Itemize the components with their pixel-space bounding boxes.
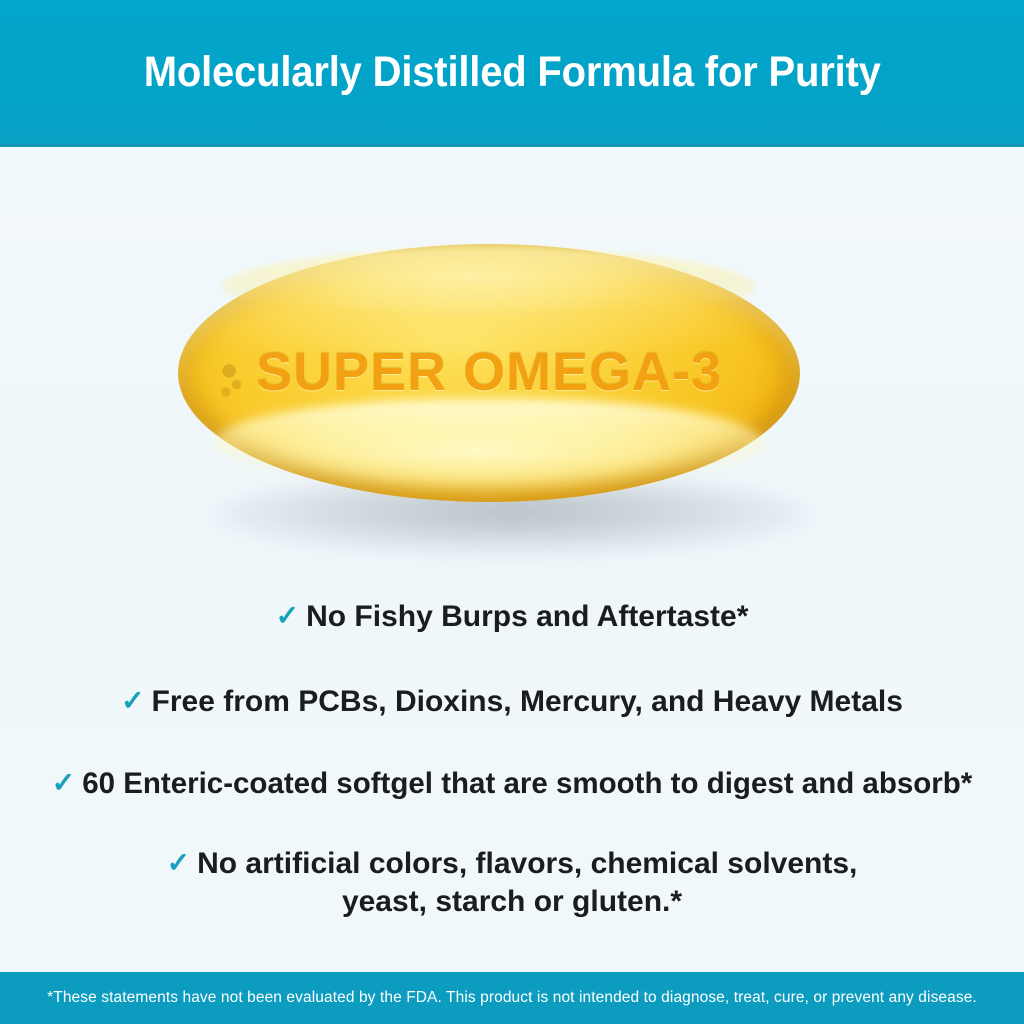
- list-item: ✓60 Enteric-coated softgel that are smoo…: [0, 763, 1024, 805]
- capsule-top-highlight: [222, 248, 757, 315]
- check-icon: ✓: [121, 681, 144, 721]
- list-item: ✓No artificial colors, flavors, chemical…: [0, 845, 1024, 922]
- footer-bar: *These statements have not been evaluate…: [0, 972, 1024, 1024]
- benefit-text: No artificial colors, flavors, chemical …: [197, 847, 857, 880]
- benefits-list: ✓No Fishy Burps and Aftertaste* ✓Free fr…: [0, 596, 1024, 922]
- page-title: Molecularly Distilled Formula for Purity: [144, 51, 881, 94]
- benefit-text: No Fishy Burps and Aftertaste*: [306, 600, 748, 633]
- header-banner: Molecularly Distilled Formula for Purity: [0, 0, 1024, 147]
- check-icon: ✓: [167, 845, 190, 881]
- product-image-stage: SUPER OMEGA-3: [0, 147, 1024, 592]
- capsule-bottom-highlight: [215, 399, 762, 487]
- list-item: ✓Free from PCBs, Dioxins, Mercury, and H…: [0, 681, 1024, 724]
- product-infographic: Molecularly Distilled Formula for Purity…: [0, 0, 1024, 1024]
- capsule-rim: [178, 244, 800, 502]
- benefit-text: 60 Enteric-coated softgel that are smoot…: [82, 767, 972, 800]
- benefit-text: Free from PCBs, Dioxins, Mercury, and He…: [152, 685, 903, 718]
- capsule-brand-label: SUPER OMEGA-3: [178, 341, 800, 403]
- list-item: ✓No Fishy Burps and Aftertaste*: [0, 596, 1024, 639]
- check-icon: ✓: [276, 596, 299, 636]
- softgel-capsule: SUPER OMEGA-3: [178, 244, 800, 502]
- check-icon: ✓: [52, 763, 75, 803]
- benefit-text-line2: yeast, starch or gluten.*: [40, 883, 984, 921]
- fda-disclaimer: *These statements have not been evaluate…: [33, 989, 991, 1007]
- capsule-bubbles: [209, 358, 259, 404]
